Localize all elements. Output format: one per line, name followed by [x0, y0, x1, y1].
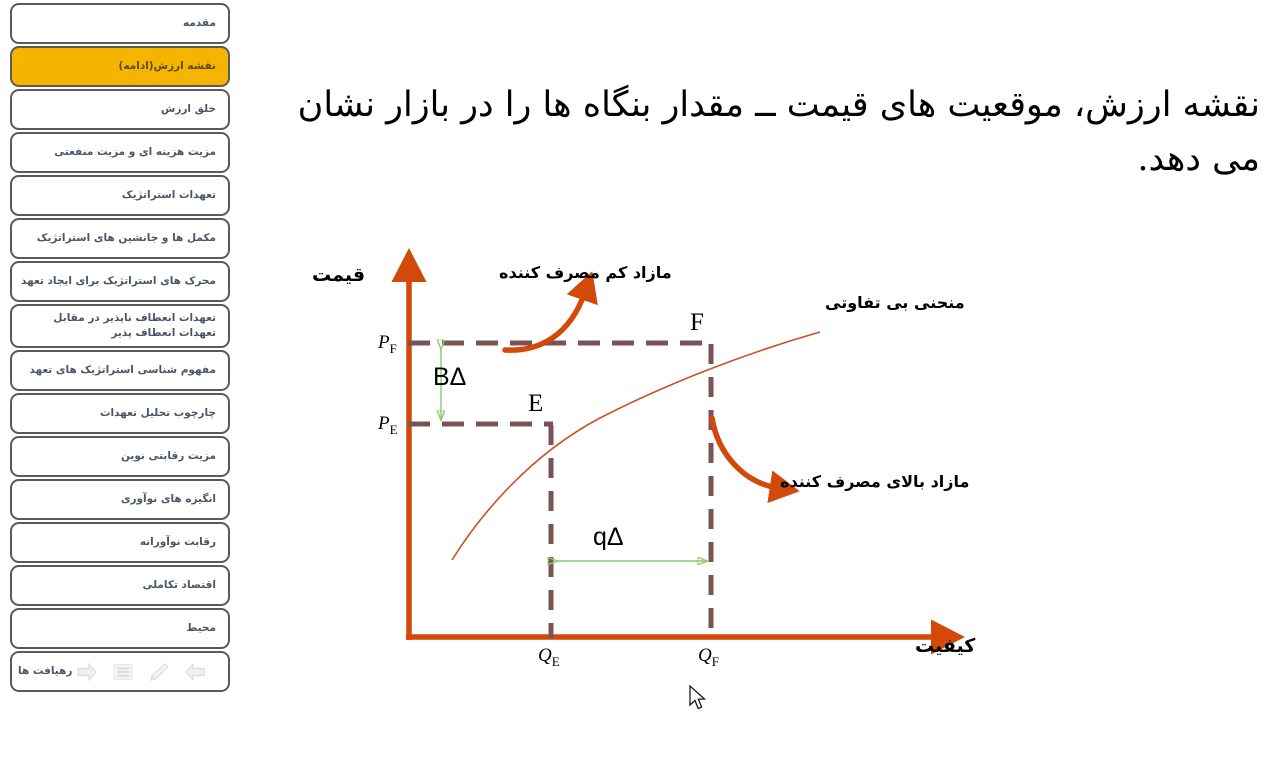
toolbar-icon-group [72, 662, 206, 682]
sidebar-item-label: محرک های استراتژیک برای ایجاد تعهد [20, 274, 216, 289]
back-arrow-icon[interactable] [184, 662, 206, 682]
x-tick-sub: E [552, 654, 560, 669]
y-tick-base: P [378, 413, 390, 434]
menu-lines-icon[interactable] [112, 662, 134, 682]
y-tick-sub: F [390, 341, 397, 356]
sidebar-item-label: انگیزه های نوآوری [20, 492, 216, 507]
y-tick-label-pe: PE [378, 413, 398, 438]
sidebar-item-5[interactable]: مکمل ها و جانشین های استراتژیک [10, 218, 230, 259]
annotation-arrow-lower [712, 418, 778, 488]
sidebar-navigation: مقدمه نقشه ارزش(ادامه) خلق ارزش مزیت هزی… [0, 0, 238, 768]
annotation-high-surplus: مازاد بالای مصرف کننده [780, 472, 969, 491]
annotation-low-surplus: مازاد کم مصرف کننده [499, 263, 672, 282]
point-label-f: F [690, 309, 704, 337]
point-label-e: E [528, 390, 543, 418]
sidebar-item-3[interactable]: مزیت هزینه ای و مزیت منفعتی [10, 132, 230, 173]
sidebar-item-label: مفهوم شناسی استراتژیک های تعهد [20, 363, 216, 378]
sidebar-item-6[interactable]: محرک های استراتژیک برای ایجاد تعهد [10, 261, 230, 302]
sidebar-item-8[interactable]: مفهوم شناسی استراتژیک های تعهد [10, 350, 230, 391]
x-tick-base: Q [698, 645, 712, 666]
value-map-chart: قیمت کیفیت منحنی بی تفاوتی مازاد کم مصرف… [300, 240, 1020, 690]
sidebar-item-label: رقابت نوآورانه [20, 535, 216, 550]
sidebar-item-1-active[interactable]: نقشه ارزش(ادامه) [10, 46, 230, 87]
y-tick-label-pf: PF [378, 332, 397, 357]
measure-label-delta-q: qΔ [593, 523, 624, 552]
curve-label: منحنی بی تفاوتی [825, 293, 965, 312]
sidebar-item-label: چارچوب تحلیل تعهدات [20, 406, 216, 421]
sidebar-item-toolbar[interactable]: رهیافت ها [10, 651, 230, 692]
sidebar-item-13[interactable]: اقتصاد تکاملی [10, 565, 230, 606]
sidebar-item-0[interactable]: مقدمه [10, 3, 230, 44]
slide-canvas: مقدمه نقشه ارزش(ادامه) خلق ارزش مزیت هزی… [0, 0, 1274, 768]
slide-heading: نقشه ارزش، موقعیت های قیمت ــ مقدار بنگا… [275, 78, 1260, 187]
indifference-curve [452, 332, 820, 560]
sidebar-item-12[interactable]: رقابت نوآورانه [10, 522, 230, 563]
x-axis-label: کیفیت [915, 635, 975, 657]
sidebar-item-label: تعهدات انعطاف ناپذیر در مقابل تعهدات انع… [20, 311, 216, 341]
pen-icon[interactable] [148, 662, 170, 682]
mouse-cursor [689, 685, 707, 716]
sidebar-item-label: اقتصاد تکاملی [20, 578, 216, 593]
sidebar-item-label: خلق ارزش [20, 102, 216, 117]
sidebar-item-label: مزیت رقابتی نوین [20, 449, 216, 464]
sidebar-item-label: مقدمه [20, 16, 216, 31]
measure-label-delta-b: BΔ [433, 363, 466, 392]
forward-arrow-icon[interactable] [76, 662, 98, 682]
x-tick-base: Q [538, 645, 552, 666]
sidebar-item-11[interactable]: انگیزه های نوآوری [10, 479, 230, 520]
sidebar-item-9[interactable]: چارچوب تحلیل تعهدات [10, 393, 230, 434]
x-tick-label-qf: QF [698, 645, 719, 670]
sidebar-item-label: مکمل ها و جانشین های استراتژیک [20, 231, 216, 246]
y-axis-label: قیمت [312, 264, 365, 286]
y-tick-sub: E [390, 422, 398, 437]
sidebar-item-7[interactable]: تعهدات انعطاف ناپذیر در مقابل تعهدات انع… [10, 304, 230, 348]
x-tick-sub: F [712, 654, 719, 669]
y-tick-base: P [378, 332, 390, 353]
sidebar-item-2[interactable]: خلق ارزش [10, 89, 230, 130]
sidebar-item-label: تعهدات استراتژیک [20, 188, 216, 203]
x-tick-label-qe: QE [538, 645, 560, 670]
sidebar-item-label: مزیت هزینه ای و مزیت منفعتی [20, 145, 216, 160]
sidebar-item-label: نقشه ارزش(ادامه) [20, 59, 216, 74]
sidebar-item-label: محیط [20, 621, 216, 636]
sidebar-item-14[interactable]: محیط [10, 608, 230, 649]
sidebar-toolbar-label: رهیافت ها [18, 664, 72, 679]
sidebar-item-4[interactable]: تعهدات استراتژیک [10, 175, 230, 216]
sidebar-item-10[interactable]: مزیت رقابتی نوین [10, 436, 230, 477]
